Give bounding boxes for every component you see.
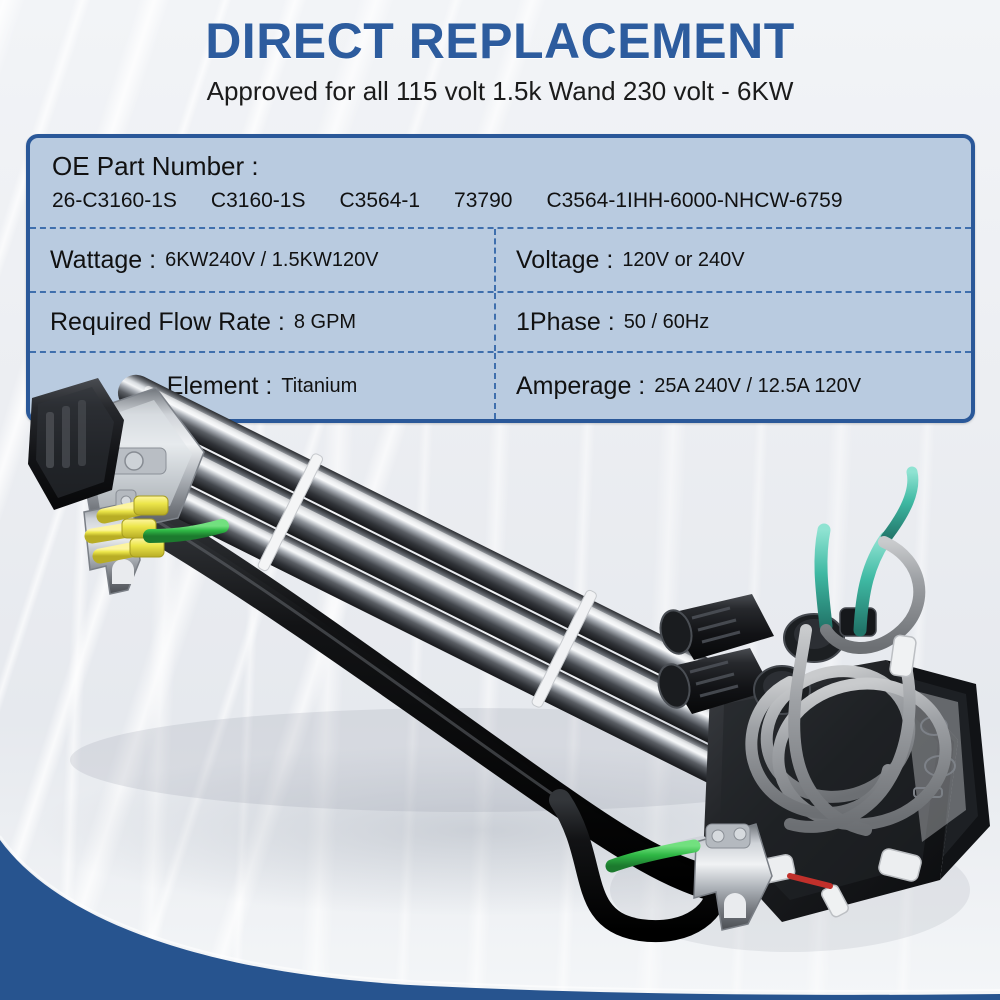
part-number-list: 26-C3160-1S C3160-1S C3564-1 73790 C3564… (52, 189, 949, 213)
part-number-label: OE Part Number : (52, 152, 949, 182)
voltage-label: Voltage : (516, 246, 613, 275)
amperage-label: Amperage : (516, 372, 645, 401)
infographic-page: DIRECT REPLACEMENT Approved for all 115 … (0, 0, 1000, 1000)
part-number-value: C3564-1 (339, 189, 420, 213)
flow-rate-value: 8 GPM (294, 311, 356, 334)
table-row-flowrate-phase: Required Flow Rate : 8 GPM 1Phase : 50 /… (30, 293, 971, 353)
bottom-blue-swoosh (0, 810, 1000, 1000)
phase-value: 50 / 60Hz (624, 311, 710, 334)
table-row-element-amperage: Element : Titanium Amperage : 25A 240V /… (30, 353, 971, 419)
cell-voltage: Voltage : 120V or 240V (496, 229, 971, 291)
spec-table: OE Part Number : 26-C3160-1S C3160-1S C3… (26, 134, 975, 423)
wattage-value: 6KW240V / 1.5KW120V (165, 249, 378, 272)
page-subtitle: Approved for all 115 volt 1.5k Wand 230 … (0, 66, 1000, 104)
cell-flow-rate: Required Flow Rate : 8 GPM (30, 293, 496, 351)
product-image (0, 330, 1000, 1000)
page-title: DIRECT REPLACEMENT (0, 0, 1000, 66)
table-row-wattage-voltage: Wattage : 6KW240V / 1.5KW120V Voltage : … (30, 229, 971, 293)
product-ground-shadow (0, 700, 1000, 960)
background-vertical-streaks (0, 380, 1000, 1000)
header: DIRECT REPLACEMENT Approved for all 115 … (0, 0, 1000, 126)
amperage-value: 25A 240V / 12.5A 120V (654, 375, 861, 398)
part-number-value: 26-C3160-1S (52, 189, 177, 213)
cell-amperage: Amperage : 25A 240V / 12.5A 120V (496, 353, 971, 419)
phase-label: 1Phase : (516, 308, 615, 337)
part-number-value: 73790 (454, 189, 512, 213)
cell-wattage: Wattage : 6KW240V / 1.5KW120V (30, 229, 496, 291)
element-label: Element : (167, 372, 273, 401)
part-number-value: C3564-1IHH-6000-NHCW-6759 (546, 189, 842, 213)
cell-phase: 1Phase : 50 / 60Hz (496, 293, 971, 351)
wattage-label: Wattage : (50, 246, 156, 275)
part-number-value: C3160-1S (211, 189, 306, 213)
voltage-value: 120V or 240V (622, 249, 744, 272)
element-value: Titanium (281, 375, 357, 398)
flow-rate-label: Required Flow Rate : (50, 308, 285, 337)
table-row-part-number: OE Part Number : 26-C3160-1S C3160-1S C3… (30, 138, 971, 229)
cell-element: Element : Titanium (30, 353, 496, 419)
